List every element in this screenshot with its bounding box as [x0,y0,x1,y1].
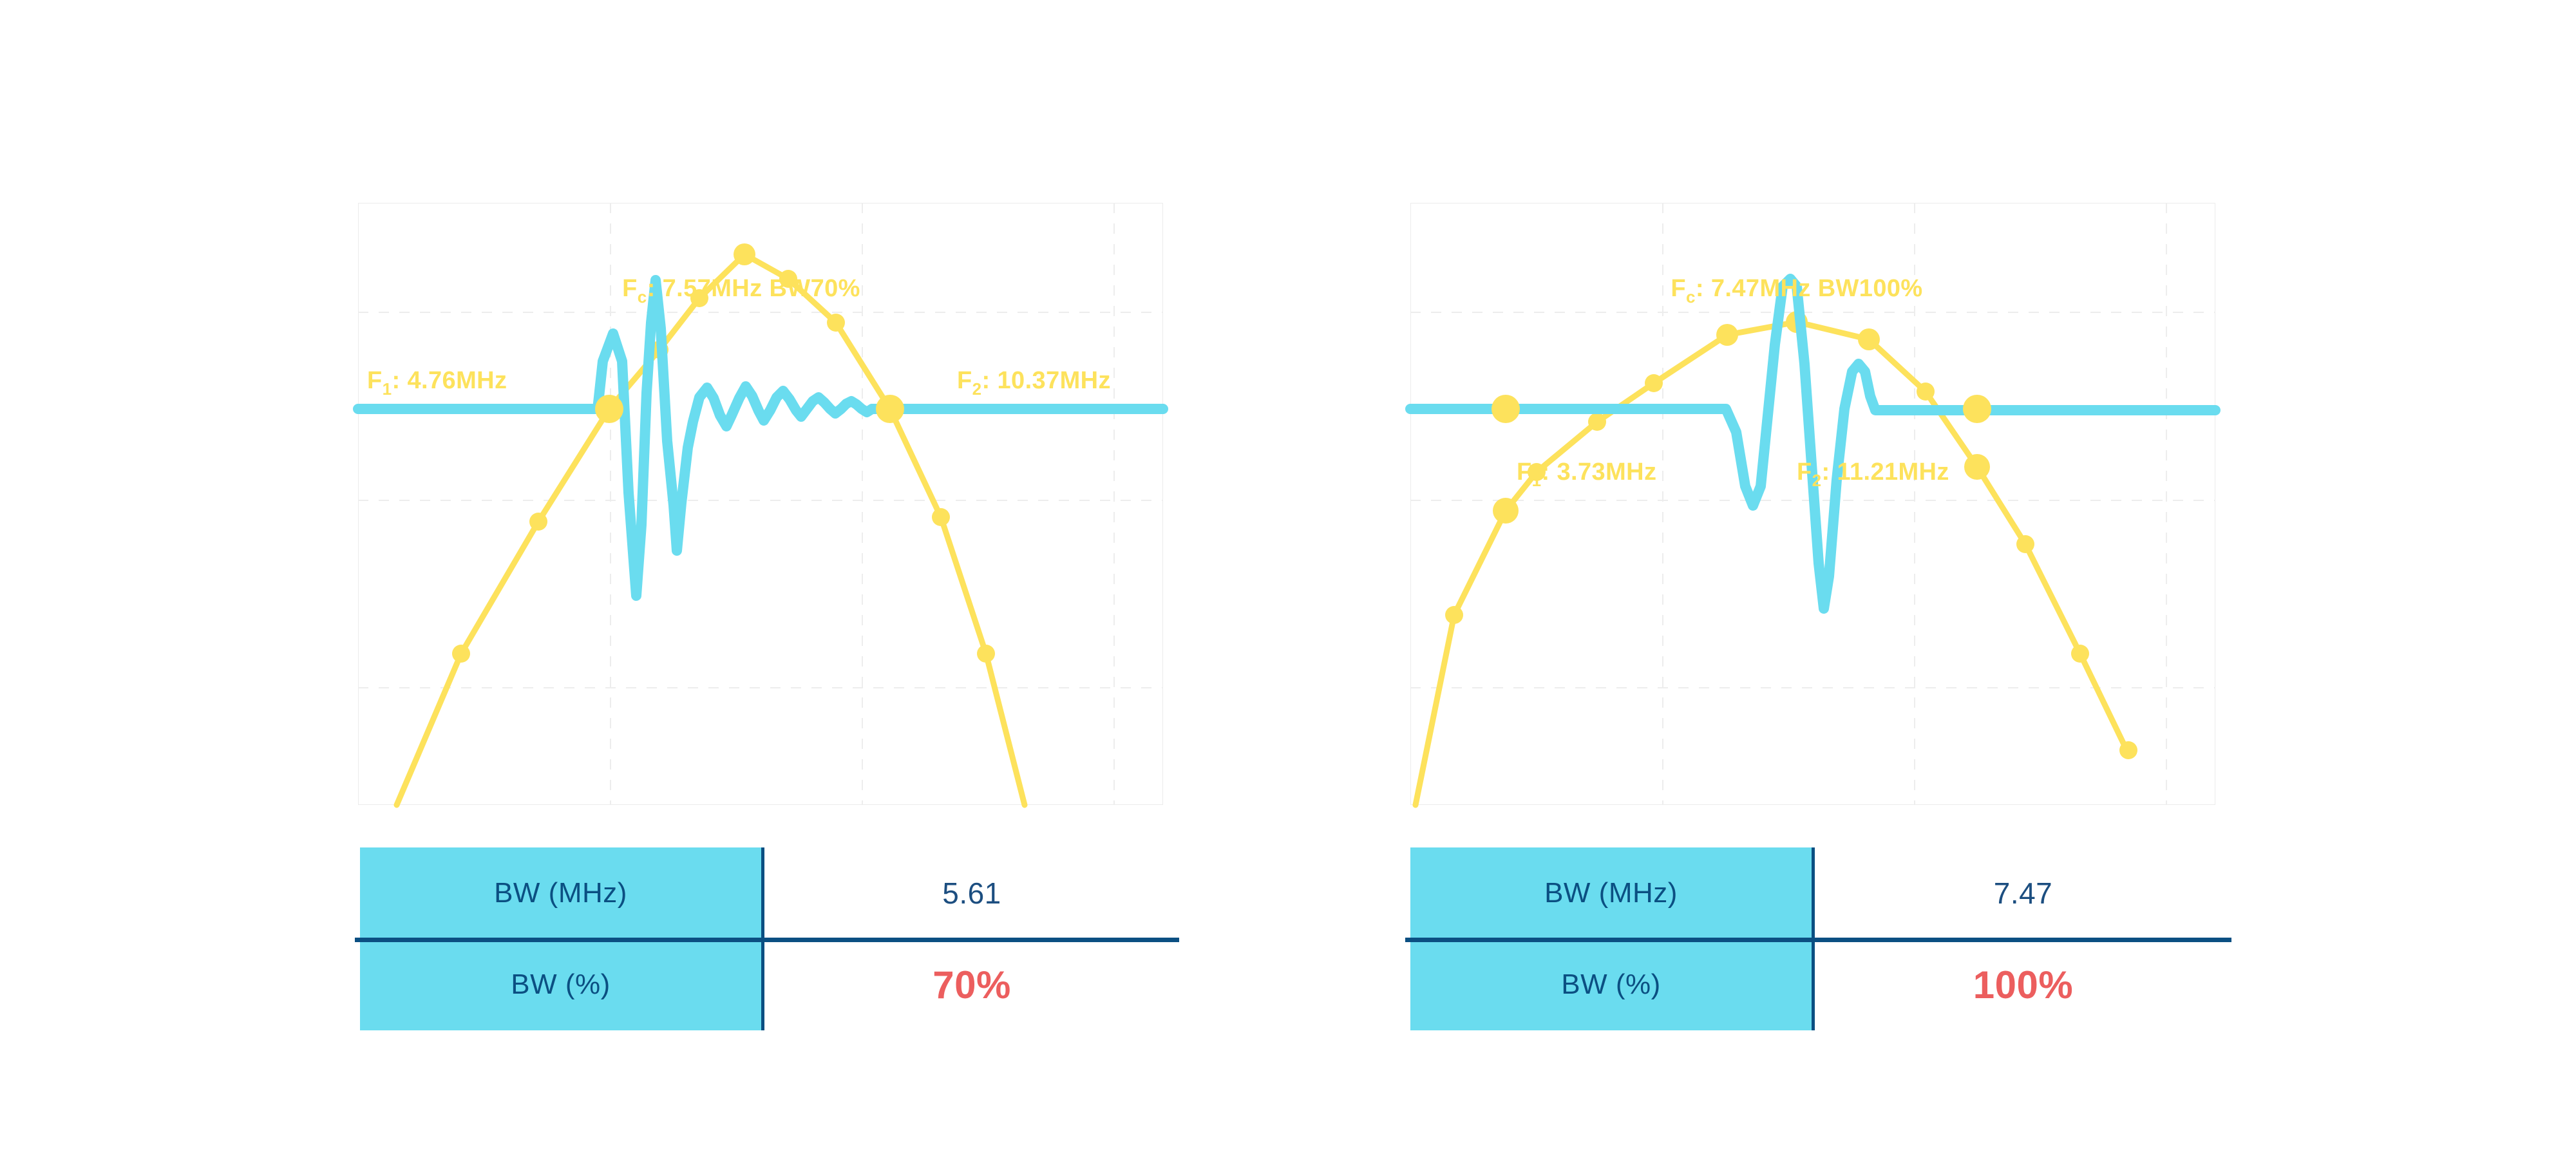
table-row: BW (%) 70% [360,939,1179,1030]
row-value-cell: 5.61 [764,847,1179,939]
pulse-waveform-left [358,280,1163,596]
table-divider-right [1405,938,2231,942]
panel-right: Fc: 7.47MHz BW100% F1: 3.73MHz F2: 11.21… [1410,203,2236,805]
spectrum-markers-right [1445,311,2137,759]
label-f1-left: F1: 4.76MHz [367,367,507,399]
table-divider-left [355,938,1179,942]
plot-left: Fc: 7.57MHz BW70% F1: 4.76MHz F2: 10.37M… [358,203,1163,805]
bw-percent-value: 100% [1973,963,2073,1007]
row-header-bw-percent: BW (%) [1410,939,1815,1030]
bw-mhz-value: 5.61 [942,876,1001,911]
row-header-bw-mhz: BW (MHz) [1410,847,1815,939]
label-center-frequency-left: Fc: 7.57MHz BW70% [622,275,860,307]
bw-percent-value: 70% [933,963,1011,1007]
spectrum-curve-right [1416,311,2137,805]
label-f2-left: F2: 10.37MHz [957,367,1111,399]
label-f2-right: F2: 11.21MHz [1797,459,1949,490]
row-value-cell: 70% [764,939,1179,1030]
table-row: BW (%) 100% [1410,939,2231,1030]
panel-left: Fc: 7.57MHz BW70% F1: 4.76MHz F2: 10.37M… [358,203,1184,805]
bandwidth-table-right: BW (MHz) 7.47 BW (%) 100% [1410,847,2231,1031]
table-row: BW (MHz) 7.47 [1410,847,2231,939]
figure-root: Fc: 7.57MHz BW70% F1: 4.76MHz F2: 10.37M… [0,0,2576,1154]
row-value-cell: 7.47 [1815,847,2231,939]
table-row: BW (MHz) 5.61 [360,847,1179,939]
bw-mhz-value: 7.47 [1994,876,2053,911]
row-header-bw-percent: BW (%) [360,939,764,1030]
plot-right: Fc: 7.47MHz BW100% F1: 3.73MHz F2: 11.21… [1410,203,2215,805]
row-value-cell: 100% [1815,939,2231,1030]
spectrum-curve-left [397,243,1025,805]
bandwidth-table-left: BW (MHz) 5.61 BW (%) 70% [360,847,1179,1031]
row-header-bw-mhz: BW (MHz) [360,847,764,939]
label-center-frequency-right: Fc: 7.47MHz BW100% [1671,275,1922,307]
